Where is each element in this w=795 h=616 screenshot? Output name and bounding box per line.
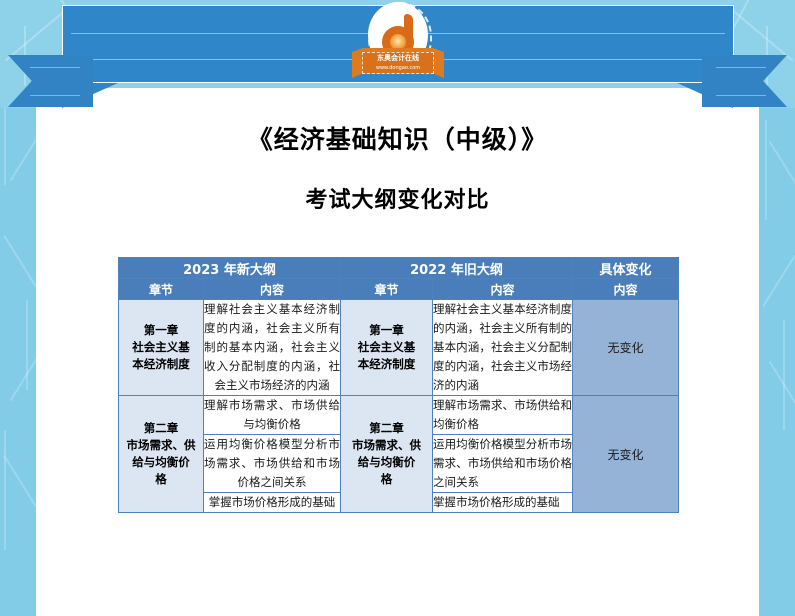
subheader-old-chapter: 章节: [341, 279, 433, 300]
page-title: 《经济基础知识（中级）》: [36, 120, 759, 160]
subheader-new-chapter: 章节: [119, 279, 204, 300]
cell-old-chapter: 第二章市场需求、供给与均衡价格: [341, 396, 433, 513]
header-new-syllabus: 2023 年新大纲: [119, 258, 341, 279]
cell-new-content: 理解社会主义基本经济制度的内涵，社会主义所有制的基本内涵，社会主义收入分配制度的…: [204, 300, 341, 396]
logo-ribbon-text: 东奥会计在线 www.dongao.com: [362, 52, 434, 74]
table-sub-header-row: 章节 内容 章节 内容 内容: [119, 279, 679, 300]
cell-change-note: 无变化: [573, 300, 679, 396]
dongao-logo-icon: 东奥会计在线 www.dongao.com: [352, 4, 444, 88]
subheader-new-content: 内容: [204, 279, 341, 300]
table-row: 第一章社会主义基本经济制度理解社会主义基本经济制度的内涵，社会主义所有制的基本内…: [119, 300, 679, 396]
header-changes: 具体变化: [573, 258, 679, 279]
cell-old-content: 运用均衡价格模型分析市场需求、市场供给和市场价格之间关系: [433, 435, 573, 493]
page-subtitle: 考试大纲变化对比: [36, 182, 759, 220]
cell-new-chapter: 第二章市场需求、供给与均衡价格: [119, 396, 204, 513]
header-old-syllabus: 2022 年旧大纲: [341, 258, 573, 279]
cell-old-content: 理解社会主义基本经济制度的内涵，社会主义所有制的基本内涵，社会主义分配制度的内涵…: [433, 300, 573, 396]
syllabus-comparison-table: 2023 年新大纲 2022 年旧大纲 具体变化 章节 内容 章节 内容 内容 …: [118, 257, 679, 513]
table-row: 第二章市场需求、供给与均衡价格理解市场需求、市场供给与均衡价格第二章市场需求、供…: [119, 396, 679, 435]
cell-change-note: 无变化: [573, 396, 679, 513]
logo-brand-name: 东奥会计在线: [363, 53, 433, 64]
cell-old-chapter: 第一章社会主义基本经济制度: [341, 300, 433, 396]
cell-new-content: 掌握市场价格形成的基础: [204, 493, 341, 513]
cell-old-content: 掌握市场价格形成的基础: [433, 493, 573, 513]
cell-new-chapter: 第一章社会主义基本经济制度: [119, 300, 204, 396]
subheader-change-content: 内容: [573, 279, 679, 300]
cell-old-content: 理解市场需求、市场供给和均衡价格: [433, 396, 573, 435]
logo-brand-url: www.dongao.com: [363, 64, 433, 72]
table-group-header-row: 2023 年新大纲 2022 年旧大纲 具体变化: [119, 258, 679, 279]
cell-new-content: 理解市场需求、市场供给与均衡价格: [204, 396, 341, 435]
title-block: 《经济基础知识（中级）》 考试大纲变化对比: [36, 120, 759, 220]
cell-new-content: 运用均衡价格模型分析市场需求、市场供给和市场价格之间关系: [204, 435, 341, 493]
subheader-old-content: 内容: [433, 279, 573, 300]
table-body: 第一章社会主义基本经济制度理解社会主义基本经济制度的内涵，社会主义所有制的基本内…: [119, 300, 679, 513]
